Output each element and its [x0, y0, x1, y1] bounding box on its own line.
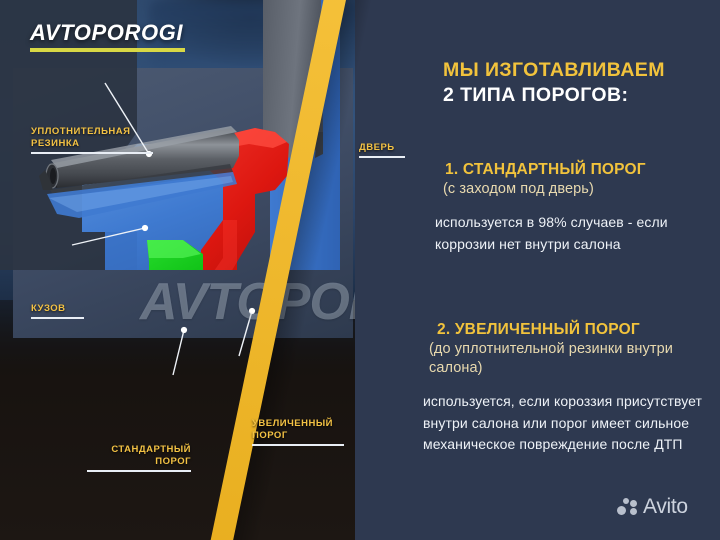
section-1-subtitle: (с заходом под дверь) [443, 180, 720, 199]
info-panel-content: МЫ ИЗГОТАВЛИВАЕМ 2 ТИПА ПОРОГОВ: 1. СТАН… [415, 0, 720, 540]
callout-label-door: ДВЕРЬ [359, 142, 405, 158]
section-2-title: 2. УВЕЛИЧЕННЫЙ ПОРОГ [437, 320, 720, 340]
callout-seal-underline [31, 152, 153, 154]
panel-heading: МЫ ИЗГОТАВЛИВАЕМ 2 ТИПА ПОРОГОВ: [443, 58, 720, 108]
heading-line-1: МЫ ИЗГОТАВЛИВАЕМ [443, 58, 720, 83]
avito-wordmark: Avito [643, 495, 688, 519]
callout-standard-underline [87, 470, 191, 472]
callout-label-standard: СТАНДАРТНЫЙ ПОРОГ [87, 444, 191, 472]
callout-door-underline [359, 156, 405, 158]
section-2-subtitle: (до уплотнительной резинки внутри салона… [429, 340, 720, 378]
callout-label-seal: УПЛОТНИТЕЛЬНАЯ РЕЗИНКА [31, 126, 161, 154]
section-1-body: используется в 98% случаев - если корроз… [435, 212, 720, 255]
callout-label-extended: УВЕЛИЧЕННЫЙ ПОРОГ [252, 418, 344, 446]
infographic-canvas: AVTOPOROGI POROGI МЫ ИЗГОТАВЛИВАЕМ 2 ТИП… [0, 0, 720, 540]
section-1-title: 1. СТАНДАРТНЫЙ ПОРОГ [445, 160, 720, 180]
section-standard-sill: 1. СТАНДАРТНЫЙ ПОРОГ (с заходом под двер… [415, 160, 720, 255]
callout-seal-text: УПЛОТНИТЕЛЬНАЯ РЕЗИНКА [31, 126, 161, 150]
brand-logo-underline [30, 48, 185, 52]
heading-line-2: 2 ТИПА ПОРОГОВ: [443, 83, 720, 108]
brand-logo-text: AVTOPOROGI [30, 20, 185, 46]
callout-body-underline [31, 317, 84, 319]
brand-logo: AVTOPOROGI [30, 20, 185, 52]
callout-extended-text: УВЕЛИЧЕННЫЙ ПОРОГ [252, 418, 344, 442]
avito-watermark: Avito [617, 495, 688, 519]
section-2-body: используется, если короззия присутствует… [423, 391, 720, 456]
callout-standard-text: СТАНДАРТНЫЙ ПОРОГ [87, 444, 191, 468]
callout-door-text: ДВЕРЬ [359, 142, 405, 154]
avito-dots-icon [617, 498, 639, 516]
callout-body-text: КУЗОВ [31, 303, 91, 315]
section-extended-sill: 2. УВЕЛИЧЕННЫЙ ПОРОГ (до уплотнительной … [415, 320, 720, 456]
callout-extended-underline [252, 444, 344, 446]
callout-label-body: КУЗОВ [31, 303, 91, 319]
